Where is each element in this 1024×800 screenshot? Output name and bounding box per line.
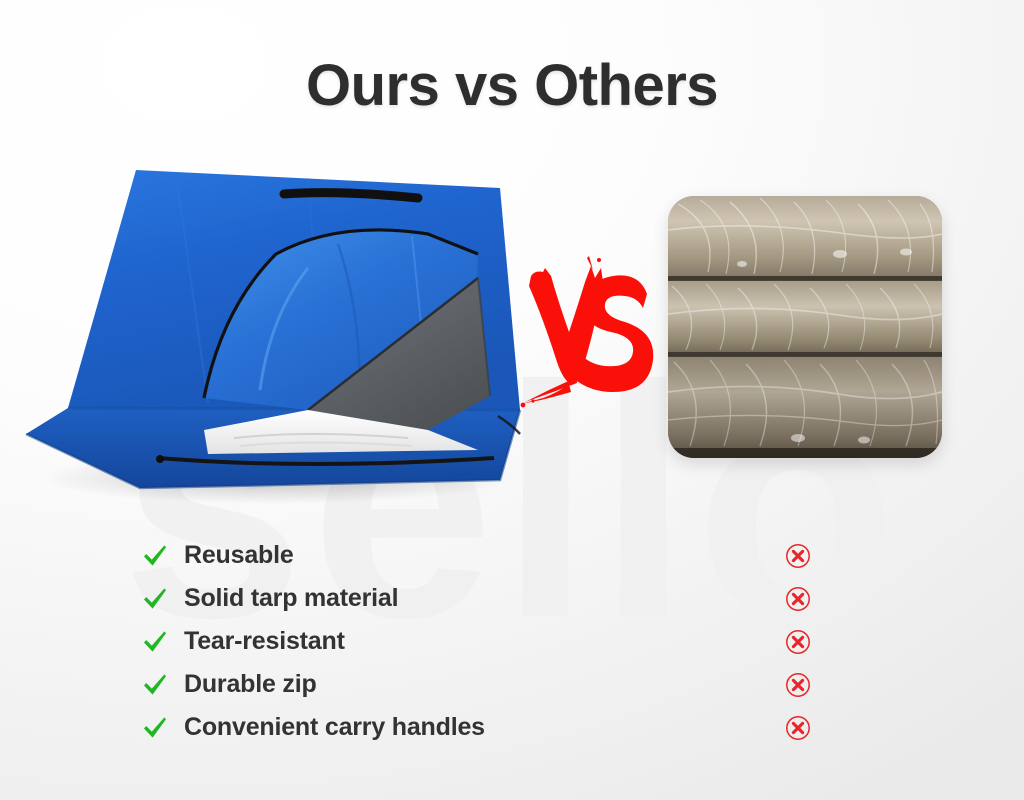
cross-circle-icon: [785, 715, 811, 741]
cross-row: [778, 706, 818, 749]
check-icon: [140, 713, 170, 743]
feature-label: Tear-resistant: [184, 627, 345, 656]
feature-row: Durable zip: [140, 663, 620, 706]
check-icon: [140, 670, 170, 700]
feature-label: Durable zip: [184, 670, 317, 699]
check-icon: [140, 584, 170, 614]
others-status-column: [778, 534, 818, 749]
cross-row: [778, 663, 818, 706]
cross-circle-icon: [785, 586, 811, 612]
feature-row: Tear-resistant: [140, 620, 620, 663]
feature-label: Convenient carry handles: [184, 713, 485, 742]
feature-label: Solid tarp material: [184, 584, 398, 613]
cross-row: [778, 577, 818, 620]
versus-badge: [515, 252, 655, 412]
feature-label: Reusable: [184, 541, 294, 570]
feature-row: Reusable: [140, 534, 620, 577]
page-title: Ours vs Others: [0, 52, 1024, 119]
others-product-image: [668, 196, 942, 458]
check-icon: [140, 627, 170, 657]
feature-row: Convenient carry handles: [140, 706, 620, 749]
infographic-canvas: sello Ours vs Others: [0, 0, 1024, 800]
cross-circle-icon: [785, 629, 811, 655]
ours-product-image: [8, 158, 538, 508]
feature-row: Solid tarp material: [140, 577, 620, 620]
feature-list: Reusable Solid tarp material Tear-resist…: [140, 534, 620, 749]
cross-circle-icon: [785, 672, 811, 698]
cross-circle-icon: [785, 543, 811, 569]
cross-row: [778, 620, 818, 663]
check-icon: [140, 541, 170, 571]
cross-row: [778, 534, 818, 577]
